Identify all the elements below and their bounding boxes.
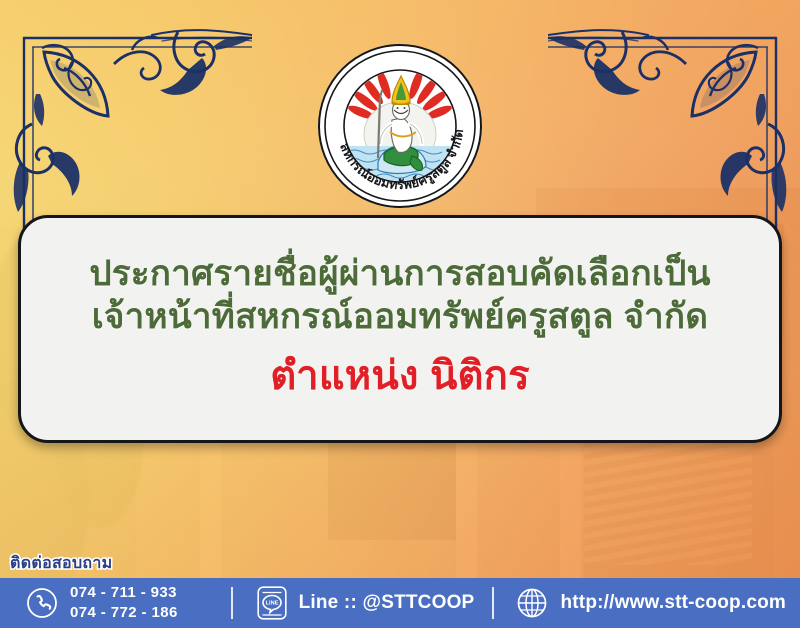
phone-number-2: 074 - 772 - 186 <box>70 604 178 623</box>
line-id-text: Line :: @STTCOOP <box>299 592 475 614</box>
announcement-line-2: เจ้าหน้าที่สหกรณ์ออมทรัพย์ครูสตูล จำกัด <box>92 297 708 338</box>
cooperative-seal-logo-icon: สหกรณ์ออมทรัพย์ครูสตูล จำกัด <box>316 42 484 210</box>
announcement-poster: สหกรณ์ออมทรัพย์ครูสตูล จำกัด ประกาศรายชื… <box>0 0 800 628</box>
announcement-position: ตำแหน่ง นิติกร <box>270 353 530 399</box>
line-icon: LINE <box>257 586 287 620</box>
footer-contact-bar: 074 - 711 - 933 074 - 772 - 186 LINE Lin… <box>0 578 800 628</box>
globe-icon <box>516 587 548 619</box>
footer-website-cell[interactable]: http://www.stt-coop.com <box>494 578 800 628</box>
announcement-card: ประกาศรายชื่อผู้ผ่านการสอบคัดเลือกเป็น เ… <box>18 215 782 443</box>
phone-icon <box>26 587 58 619</box>
footer-line-cell[interactable]: LINE Line :: @STTCOOP <box>233 578 493 628</box>
website-url: http://www.stt-coop.com <box>560 592 786 614</box>
phone-numbers: 074 - 711 - 933 074 - 772 - 186 <box>70 584 178 623</box>
announcement-line-1: ประกาศรายชื่อผู้ผ่านการสอบคัดเลือกเป็น <box>89 254 710 295</box>
contact-label: ติดต่อสอบถาม <box>10 551 113 576</box>
line-icon-label: LINE <box>265 601 278 607</box>
phone-number-1: 074 - 711 - 933 <box>70 584 178 603</box>
footer-phone-cell[interactable]: 074 - 711 - 933 074 - 772 - 186 <box>0 578 231 628</box>
